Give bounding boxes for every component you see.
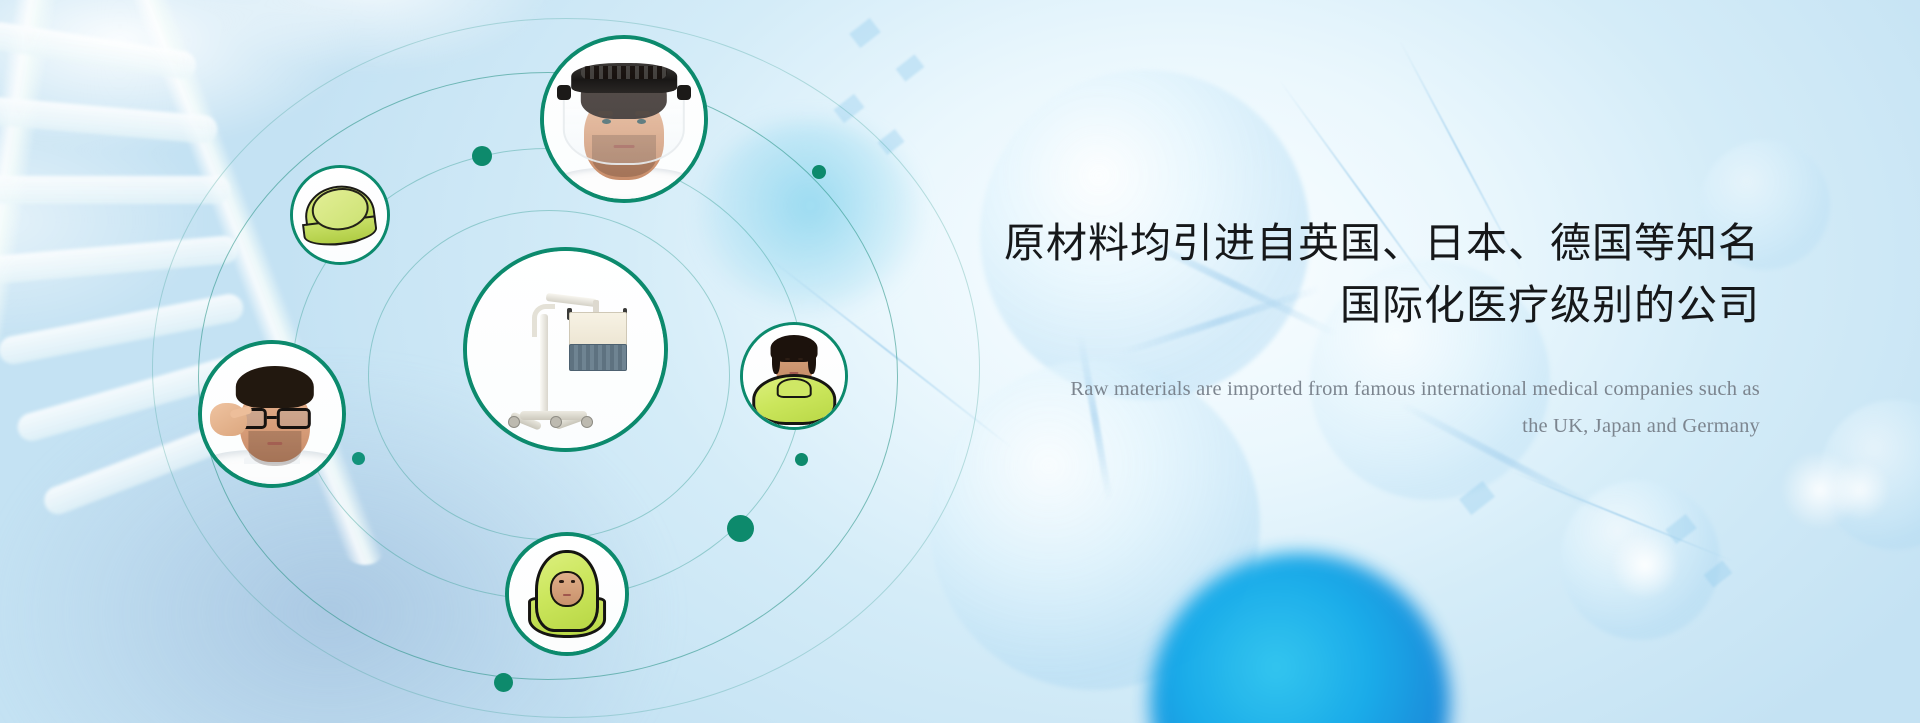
orbit-dot bbox=[472, 146, 492, 166]
bubble-man-wearing-lead-glasses[interactable] bbox=[198, 340, 346, 488]
bubble-woman-wearing-lead-hood[interactable] bbox=[505, 532, 629, 656]
headline-line-1: 原材料均引进自英国、日本、德国等知名 bbox=[1004, 220, 1760, 266]
headline: 原材料均引进自英国、日本、德国等知名 国际化医疗级别的公司 bbox=[920, 212, 1760, 337]
hero-text-block: 原材料均引进自英国、日本、德国等知名 国际化医疗级别的公司 Raw materi… bbox=[920, 212, 1760, 445]
orbit-dot bbox=[812, 165, 826, 179]
orbit-dot bbox=[494, 673, 513, 692]
bubble-man-wearing-radiation-face-shield[interactable] bbox=[540, 35, 708, 203]
bubble-woman-wearing-thyroid-collar[interactable] bbox=[740, 322, 848, 430]
subtitle-line-1: Raw materials are imported from famous i… bbox=[920, 371, 1760, 408]
hero-banner: 原材料均引进自英国、日本、德国等知名 国际化医疗级别的公司 Raw materi… bbox=[0, 0, 1920, 723]
subtitle: Raw materials are imported from famous i… bbox=[920, 371, 1760, 446]
orbit-dot bbox=[727, 515, 754, 542]
bubble-mobile-x-ray-protective-shield[interactable] bbox=[463, 247, 668, 452]
orbit-dot bbox=[352, 452, 365, 465]
orbit-dot bbox=[795, 453, 808, 466]
headline-line-2: 国际化医疗级别的公司 bbox=[920, 274, 1760, 336]
bubble-lead-protective-cap[interactable] bbox=[290, 165, 390, 265]
subtitle-line-2: the UK, Japan and Germany bbox=[920, 408, 1760, 445]
